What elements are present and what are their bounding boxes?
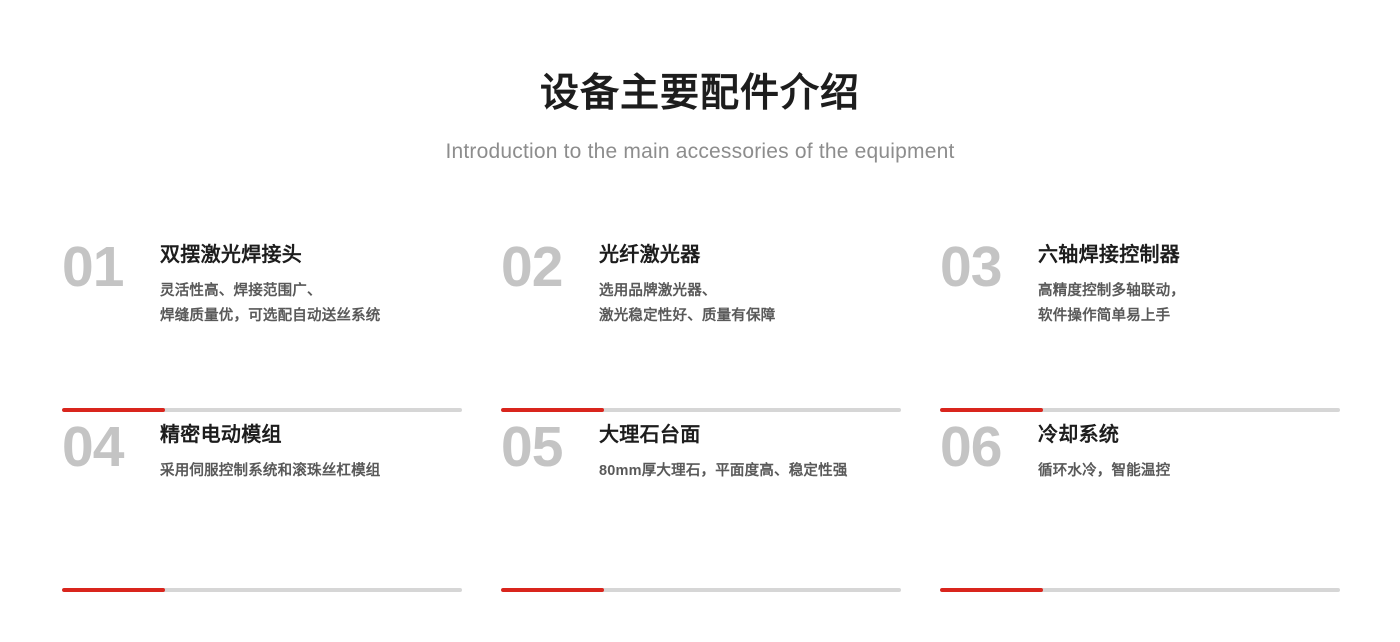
feature-card-number: 01 — [62, 240, 150, 296]
feature-card-number: 06 — [940, 420, 1028, 476]
feature-card-body: 05 大理石台面 80mm厚大理石，平面度高、稳定性强 — [501, 412, 901, 484]
feature-card-divider-accent — [501, 588, 604, 592]
feature-card-body: 06 冷却系统 循环水冷，智能温控 — [940, 412, 1340, 484]
feature-card-description-line: 灵活性高、焊接范围广、 — [160, 279, 462, 304]
feature-card-description: 高精度控制多轴联动， 软件操作简单易上手 — [1038, 279, 1340, 330]
feature-card-title: 大理石台面 — [599, 423, 901, 448]
feature-card-01: 01 双摆激光焊接头 灵活性高、焊接范围广、 焊缝质量优，可选配自动送丝系统 — [62, 232, 462, 412]
feature-card-description: 灵活性高、焊接范围广、 焊缝质量优，可选配自动送丝系统 — [160, 279, 462, 330]
feature-card-04: 04 精密电动模组 采用伺服控制系统和滚珠丝杠模组 — [62, 412, 462, 592]
feature-card-description-line: 80mm厚大理石，平面度高、稳定性强 — [599, 459, 901, 484]
feature-cards-grid: 01 双摆激光焊接头 灵活性高、焊接范围广、 焊缝质量优，可选配自动送丝系统 0… — [62, 232, 1340, 592]
feature-card-06: 06 冷却系统 循环水冷，智能温控 — [940, 412, 1340, 592]
feature-card-text: 大理石台面 80mm厚大理石，平面度高、稳定性强 — [589, 420, 901, 484]
feature-card-title: 冷却系统 — [1038, 423, 1340, 448]
feature-card-description: 选用品牌激光器、 激光稳定性好、质量有保障 — [599, 279, 901, 330]
header: 设备主要配件介绍 Introduction to the main access… — [0, 0, 1400, 164]
feature-card-divider — [940, 588, 1340, 592]
feature-card-number: 02 — [501, 240, 589, 296]
feature-card-05: 05 大理石台面 80mm厚大理石，平面度高、稳定性强 — [501, 412, 901, 592]
feature-card-text: 六轴焊接控制器 高精度控制多轴联动， 软件操作简单易上手 — [1028, 240, 1340, 330]
feature-card-body: 04 精密电动模组 采用伺服控制系统和滚珠丝杠模组 — [62, 412, 462, 484]
feature-card-description-line: 软件操作简单易上手 — [1038, 304, 1340, 329]
feature-card-text: 精密电动模组 采用伺服控制系统和滚珠丝杠模组 — [150, 420, 462, 484]
feature-card-divider-accent — [62, 588, 165, 592]
feature-card-title: 双摆激光焊接头 — [160, 243, 462, 268]
feature-card-description-line: 采用伺服控制系统和滚珠丝杠模组 — [160, 459, 462, 484]
feature-card-description-line: 焊缝质量优，可选配自动送丝系统 — [160, 304, 462, 329]
feature-card-description-line: 激光稳定性好、质量有保障 — [599, 304, 901, 329]
feature-card-description: 循环水冷，智能温控 — [1038, 459, 1340, 484]
feature-card-body: 03 六轴焊接控制器 高精度控制多轴联动， 软件操作简单易上手 — [940, 232, 1340, 330]
feature-card-divider-accent — [940, 588, 1043, 592]
feature-card-text: 双摆激光焊接头 灵活性高、焊接范围广、 焊缝质量优，可选配自动送丝系统 — [150, 240, 462, 330]
feature-card-title: 精密电动模组 — [160, 423, 462, 448]
feature-card-title: 六轴焊接控制器 — [1038, 243, 1340, 268]
feature-card-divider — [62, 588, 462, 592]
feature-card-text: 光纤激光器 选用品牌激光器、 激光稳定性好、质量有保障 — [589, 240, 901, 330]
feature-card-description-line: 高精度控制多轴联动， — [1038, 279, 1340, 304]
feature-card-03: 03 六轴焊接控制器 高精度控制多轴联动， 软件操作简单易上手 — [940, 232, 1340, 412]
feature-card-description-line: 循环水冷，智能温控 — [1038, 459, 1340, 484]
page-title: 设备主要配件介绍 — [0, 72, 1400, 117]
feature-card-number: 04 — [62, 420, 150, 476]
feature-card-description: 80mm厚大理石，平面度高、稳定性强 — [599, 459, 901, 484]
feature-card-number: 03 — [940, 240, 1028, 296]
feature-card-number: 05 — [501, 420, 589, 476]
page-subtitle: Introduction to the main accessories of … — [0, 139, 1400, 164]
feature-card-description: 采用伺服控制系统和滚珠丝杠模组 — [160, 459, 462, 484]
feature-card-description-line: 选用品牌激光器、 — [599, 279, 901, 304]
feature-card-body: 01 双摆激光焊接头 灵活性高、焊接范围广、 焊缝质量优，可选配自动送丝系统 — [62, 232, 462, 330]
feature-card-text: 冷却系统 循环水冷，智能温控 — [1028, 420, 1340, 484]
feature-card-divider — [501, 588, 901, 592]
slide-root: 设备主要配件介绍 Introduction to the main access… — [0, 0, 1400, 642]
feature-card-02: 02 光纤激光器 选用品牌激光器、 激光稳定性好、质量有保障 — [501, 232, 901, 412]
feature-card-title: 光纤激光器 — [599, 243, 901, 268]
feature-card-body: 02 光纤激光器 选用品牌激光器、 激光稳定性好、质量有保障 — [501, 232, 901, 330]
